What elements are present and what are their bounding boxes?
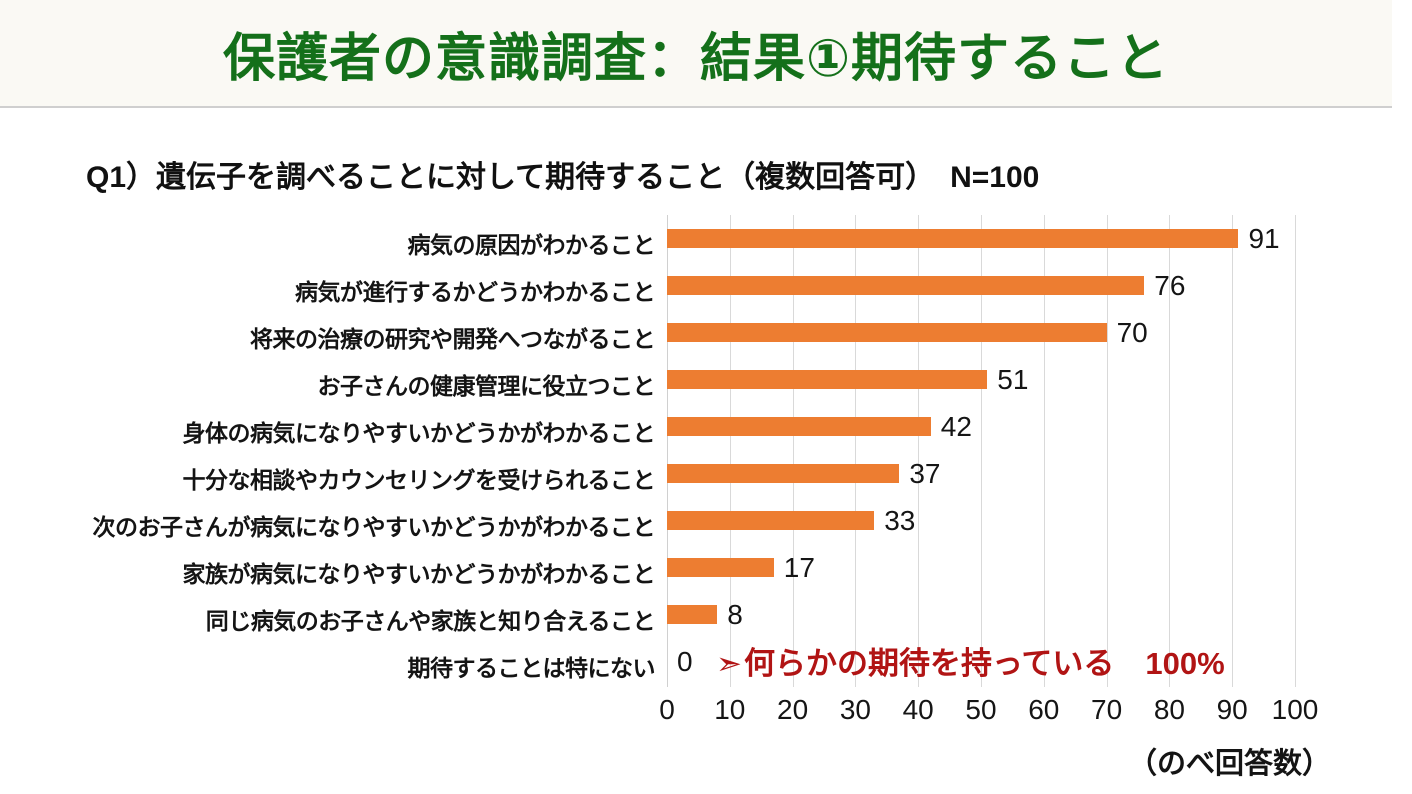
x-axis-tick-labels: 0102030405060708090100 [0, 694, 1412, 732]
bar-value-label: 76 [1154, 270, 1185, 302]
bar-row: 91 [667, 215, 1295, 262]
category-label: 同じ病気のお子さんや家族と知り合えること [0, 602, 655, 636]
bar-value-label: 37 [909, 458, 940, 490]
x-tick-80: 80 [1154, 694, 1185, 726]
bar-row: 70 [667, 309, 1295, 356]
bar [667, 464, 899, 483]
bar-value-label: 17 [784, 552, 815, 584]
category-label: 身体の病気になりやすいかどうかがわかること [0, 414, 655, 448]
bar-value-label: 0 [677, 646, 693, 678]
bar-row: 42 [667, 403, 1295, 450]
bar-row: 37 [667, 450, 1295, 497]
x-tick-50: 50 [965, 694, 996, 726]
bar [667, 417, 931, 436]
bar [667, 558, 774, 577]
bar-value-label: 91 [1248, 223, 1279, 255]
bar-row: 76 [667, 262, 1295, 309]
chart-plot-area: 917670514237331780 [667, 215, 1295, 687]
category-label: 家族が病気になりやすいかどうかがわかること [0, 555, 655, 589]
category-label: 次のお子さんが病気になりやすいかどうかがわかること [0, 508, 655, 542]
bar-value-label: 51 [997, 364, 1028, 396]
bar [667, 229, 1238, 248]
x-tick-10: 10 [714, 694, 745, 726]
bar-row: 17 [667, 544, 1295, 591]
bar [667, 323, 1107, 342]
bar-value-label: 70 [1117, 317, 1148, 349]
category-label: 十分な相談やカウンセリングを受けられること [0, 461, 655, 495]
x-tick-100: 100 [1272, 694, 1319, 726]
x-tick-20: 20 [777, 694, 808, 726]
x-tick-40: 40 [903, 694, 934, 726]
arrow-bullet-icon: ➣ [716, 646, 742, 682]
bar-value-label: 33 [884, 505, 915, 537]
bar-row: 33 [667, 497, 1295, 544]
bar [667, 605, 717, 624]
bar-row: 51 [667, 356, 1295, 403]
bar-value-label: 8 [727, 599, 743, 631]
category-label: 病気の原因がわかること [0, 226, 655, 260]
question-heading: Q1）遺伝子を調べることに対して期待すること（複数回答可） N=100 [86, 152, 1039, 196]
x-tick-90: 90 [1217, 694, 1248, 726]
x-tick-30: 30 [840, 694, 871, 726]
bar-value-label: 42 [941, 411, 972, 443]
bar [667, 276, 1144, 295]
bar-row: 8 [667, 591, 1295, 638]
annotation-total-expectation: ➣何らかの期待を持っている 100% [716, 638, 1225, 683]
annotation-text: 何らかの期待を持っている 100% [744, 646, 1225, 681]
x-axis-caption: （のべ回答数） [1128, 740, 1331, 782]
bar-chart: 917670514237331780 病気の原因がわかること病気が進行するかどう… [0, 208, 1412, 708]
category-label: 期待することは特にない [0, 649, 655, 683]
x-tick-0: 0 [659, 694, 675, 726]
slide-header-band: 保護者の意識調査：結果①期待すること [0, 0, 1392, 108]
category-label: お子さんの健康管理に役立つこと [0, 367, 655, 401]
bar [667, 370, 987, 389]
page-title: 保護者の意識調査：結果①期待すること [0, 0, 1392, 106]
x-tick-70: 70 [1091, 694, 1122, 726]
x-tick-60: 60 [1028, 694, 1059, 726]
bar [667, 511, 874, 530]
gridline-100 [1295, 215, 1296, 687]
category-label: 病気が進行するかどうかわかること [0, 273, 655, 307]
category-label: 将来の治療の研究や開発へつながること [0, 320, 655, 354]
